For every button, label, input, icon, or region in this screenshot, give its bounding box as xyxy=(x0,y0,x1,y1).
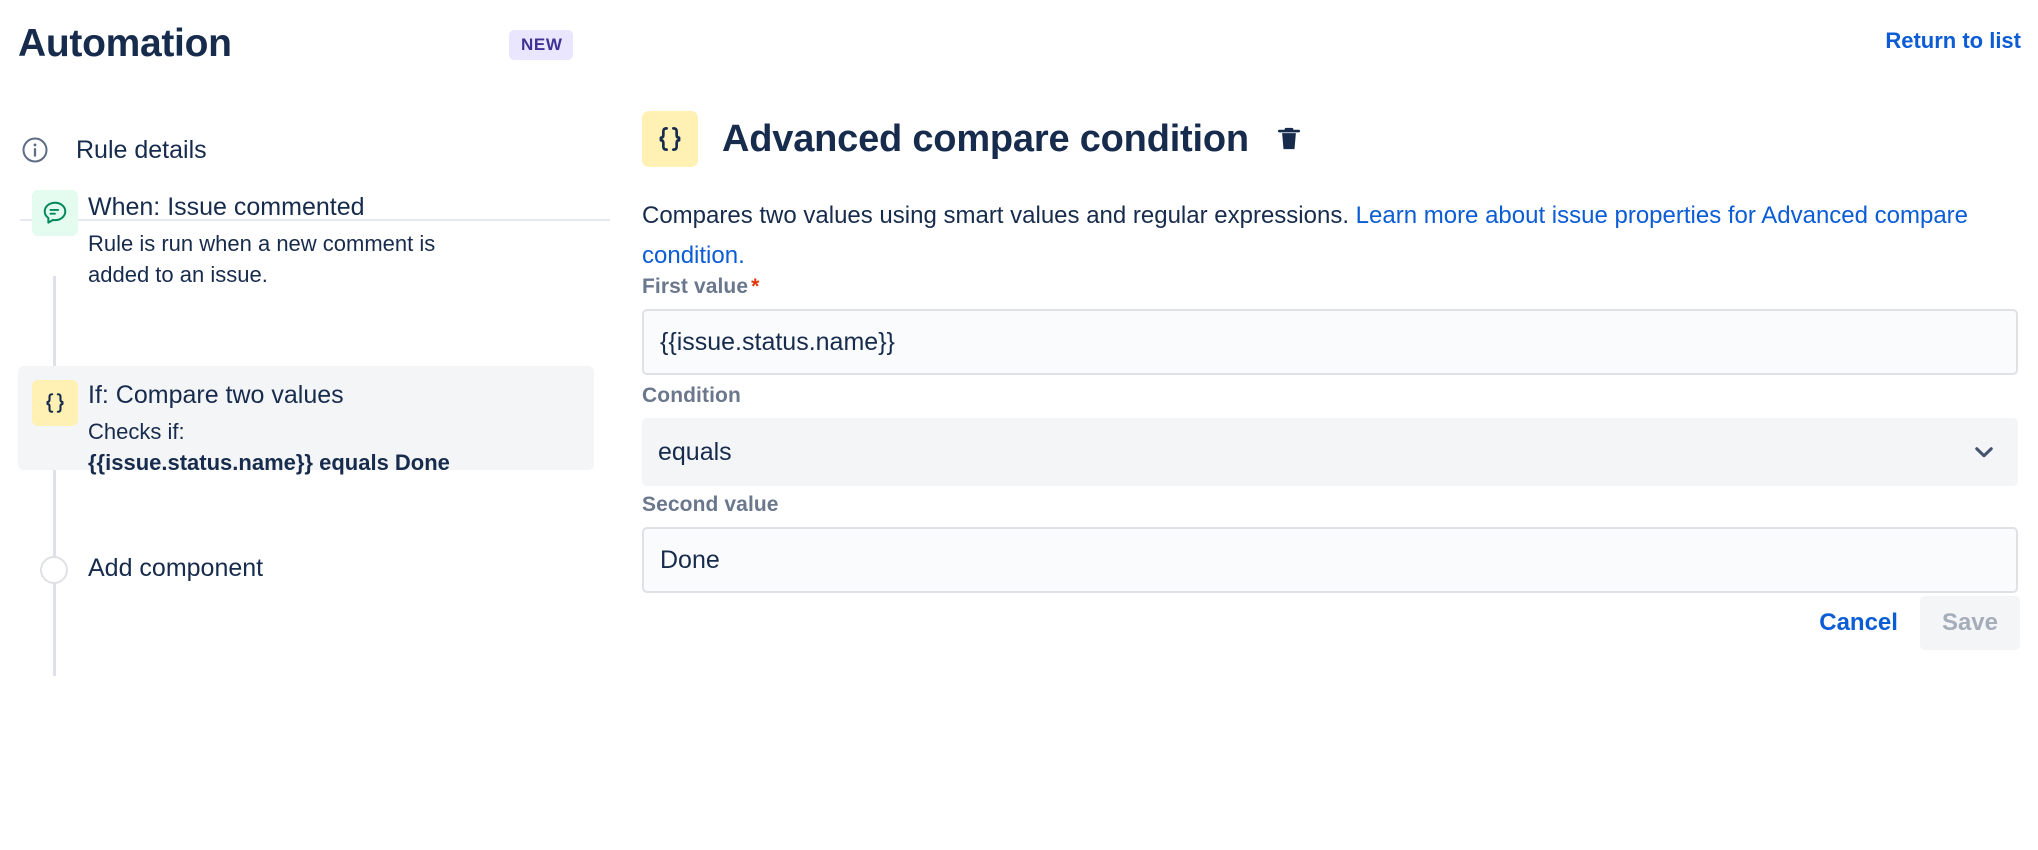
rule-node-description: Rule is run when a new comment is added … xyxy=(88,228,458,290)
first-value-label: First value* xyxy=(642,274,2018,300)
sidebar-item-rule-details[interactable]: Rule details xyxy=(20,128,207,172)
first-value-label-text: First value xyxy=(642,275,748,298)
rule-node-trigger-body: When: Issue commented Rule is run when a… xyxy=(88,190,488,290)
panel-description: Compares two values using smart values a… xyxy=(642,196,2020,276)
panel-title: Advanced compare condition xyxy=(722,116,1249,162)
rule-node-description-prefix: Checks if: xyxy=(88,419,185,444)
rule-node-description: Checks if: {{issue.status.name}} equals … xyxy=(88,416,458,478)
curly-braces-icon xyxy=(642,111,698,167)
return-to-list-link[interactable]: Return to list xyxy=(1885,27,2021,55)
field-first-value: First value* {{issue.status.name}} xyxy=(642,274,2018,375)
new-badge: NEW xyxy=(509,30,573,60)
save-button[interactable]: Save xyxy=(1920,596,2020,650)
rule-details-label: Rule details xyxy=(76,135,207,165)
field-second-value: Second value Done xyxy=(642,492,2018,593)
required-asterisk: * xyxy=(751,275,759,298)
field-condition: Condition equals xyxy=(642,383,2018,486)
rule-node-title: If: Compare two values xyxy=(88,378,488,412)
rule-node-title: When: Issue commented xyxy=(88,190,488,224)
cancel-button[interactable]: Cancel xyxy=(1801,596,1916,650)
rule-node-description-summary: {{issue.status.name}} equals Done xyxy=(88,450,450,475)
panel-header: Advanced compare condition xyxy=(642,111,1307,167)
first-value-input[interactable]: {{issue.status.name}} xyxy=(642,309,2018,375)
add-component-label: Add component xyxy=(88,551,263,585)
empty-circle-icon xyxy=(40,556,68,584)
panel-description-text: Compares two values using smart values a… xyxy=(642,202,1356,229)
rule-node-condition-body: If: Compare two values Checks if: {{issu… xyxy=(88,378,488,478)
second-value-label: Second value xyxy=(642,492,2018,518)
panel-actions: Cancel Save xyxy=(1801,596,2020,650)
page-header: Automation NEW Return to list xyxy=(0,0,2038,86)
page-title: Automation xyxy=(18,21,232,67)
rule-component-sidebar: Rule details When: Issue commented Rule … xyxy=(0,86,620,850)
curly-braces-icon xyxy=(32,380,78,426)
chevron-down-icon xyxy=(1970,438,1998,466)
condition-label: Condition xyxy=(642,383,2018,409)
info-circle-icon xyxy=(20,135,64,165)
automation-rule-editor: Automation NEW Return to list Rule detai… xyxy=(0,0,2038,850)
comment-bubble-icon xyxy=(32,190,78,236)
trash-icon[interactable] xyxy=(1271,117,1307,161)
timeline-connector xyxy=(53,276,56,676)
condition-select-value: equals xyxy=(658,438,732,467)
component-detail-panel: Advanced compare condition Compares two … xyxy=(620,86,2038,850)
second-value-input[interactable]: Done xyxy=(642,527,2018,593)
condition-select[interactable]: equals xyxy=(642,418,2018,486)
